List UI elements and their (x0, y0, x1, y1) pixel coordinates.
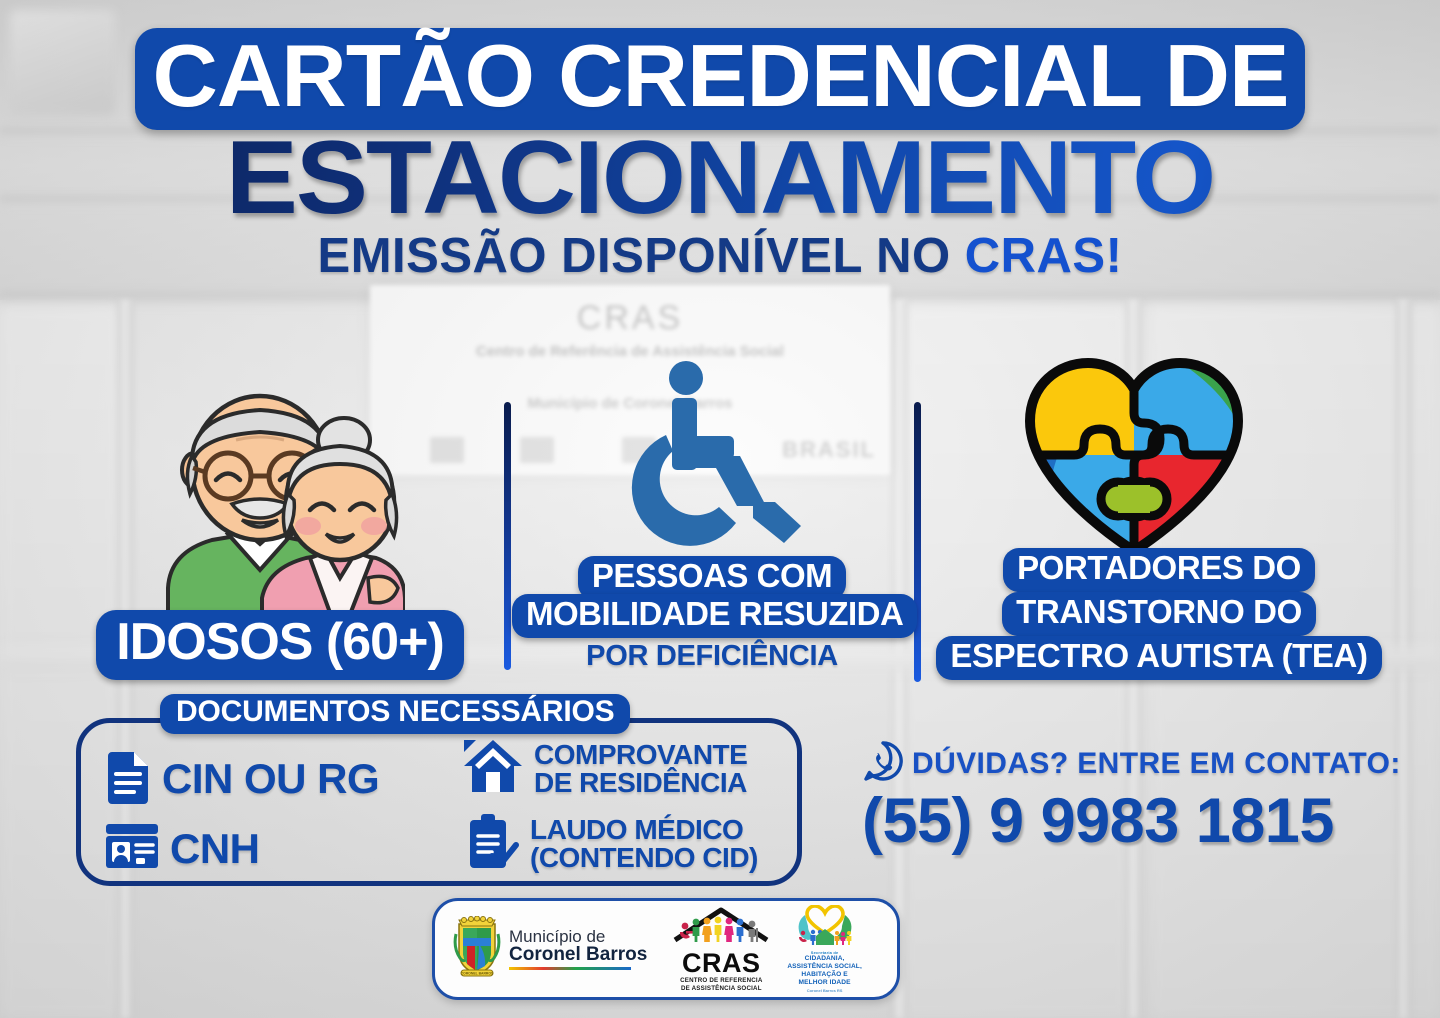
contact-phone[interactable]: (55) 9 9983 1815 (862, 785, 1432, 857)
footer-municipality-colorbar (509, 967, 631, 970)
autism-puzzle-heart-icon (1018, 355, 1250, 555)
category-idosos: IDOSOS (60+) (60, 610, 500, 680)
footer-municipality-logo: CORONEL BARROS Município de Coronel Barr… (453, 916, 647, 983)
document-label-cnh: CNH (170, 828, 260, 870)
document-item-residencia: COMPROVANTE DE RESIDÊNCIA (462, 738, 747, 799)
document-label-residencia-line1: COMPROVANTE (534, 741, 747, 769)
document-icon (104, 748, 152, 809)
clipboard-check-icon (462, 812, 520, 875)
document-item-cnh: CNH (104, 822, 260, 875)
footer-municipality-line1: Município de (509, 928, 647, 946)
documents-title: DOCUMENTOS NECESSÁRIOS (160, 694, 630, 734)
contact-prompt: DÚVIDAS? ENTRE EM CONTATO: (912, 747, 1401, 781)
svg-text:CORONEL BARROS: CORONEL BARROS (461, 971, 494, 975)
title-line1: CARTÃO CREDENCIAL DE (152, 34, 1288, 118)
footer-cras-name: CRAS (669, 951, 773, 975)
whatsapp-icon[interactable] (862, 740, 904, 787)
footer-municipality-line2: Coronel Barros (509, 945, 647, 965)
column-divider-1 (504, 402, 511, 670)
contact-block: DÚVIDAS? ENTRE EM CONTATO: (55) 9 9983 1… (862, 740, 1432, 857)
footer-secretaria-line2: ASSISTÊNCIA SOCIAL, (787, 963, 862, 971)
elderly-couple-icon (150, 392, 405, 640)
category-idosos-label: IDOSOS (60+) (96, 610, 464, 680)
category-tea-label-line2: TRANSTORNO DO (1002, 592, 1316, 636)
document-label-laudo-line1: LAUDO MÉDICO (530, 816, 758, 844)
footer-secretaria-line4: MELHOR IDADE (787, 979, 862, 987)
column-divider-2 (914, 402, 921, 682)
category-pcd-label-line2: MOBILIDADE RESUZIDA (512, 594, 917, 638)
footer-secretaria-post: Coronel Barros RS (787, 988, 862, 993)
category-mobilidade-reduzida: PESSOAS COM MOBILIDADE RESUZIDA POR DEFI… (512, 556, 912, 673)
category-tea: PORTADORES DO TRANSTORNO DO ESPECTRO AUT… (924, 548, 1394, 680)
house-icon (462, 738, 524, 799)
document-label-laudo: LAUDO MÉDICO (CONTENDO CID) (530, 816, 758, 872)
document-label-residencia: COMPROVANTE DE RESIDÊNCIA (534, 741, 747, 797)
title-line3: EMISSÃO DISPONÍVEL NO CRAS! (0, 228, 1440, 284)
footer-cras-subtitle-line2: DE ASSISTÊNCIA SOCIAL (669, 985, 773, 993)
footer-secretaria-line1: CIDADANIA, (787, 955, 862, 963)
document-item-cin: CIN OU RG (104, 748, 379, 809)
wheelchair-icon (600, 360, 830, 560)
title-line1-pill: CARTÃO CREDENCIAL DE (135, 28, 1306, 130)
id-card-icon (104, 822, 160, 875)
footer-cras-logo: CRAS CENTRO DE REFERENCIA DE ASSISTÊNCIA… (669, 906, 773, 993)
title-line2: ESTACIONAMENTO (0, 126, 1440, 230)
document-label-residencia-line2: DE RESIDÊNCIA (534, 769, 747, 797)
category-pcd-subtitle: POR DEFICIÊNCIA (512, 640, 912, 673)
hands-heart-icon (793, 932, 857, 949)
documents-title-label: DOCUMENTOS NECESSÁRIOS (160, 694, 630, 734)
coronel-barros-coat-of-arms-icon: CORONEL BARROS (453, 916, 501, 983)
document-label-cin: CIN OU RG (162, 758, 379, 800)
document-label-laudo-line2: (CONTENDO CID) (530, 844, 758, 872)
page-title: CARTÃO CREDENCIAL DE ESTACIONAMENTO EMIS… (0, 28, 1440, 284)
title-line3-highlight: CRAS! (965, 229, 1123, 283)
document-item-laudo: LAUDO MÉDICO (CONTENDO CID) (462, 812, 758, 875)
footer-secretaria-logo: Secretaria de CIDADANIA, ASSISTÊNCIA SOC… (787, 905, 862, 993)
category-tea-label-line1: PORTADORES DO (1003, 548, 1315, 592)
footer-secretaria-line3: HABITAÇÃO E (787, 971, 862, 979)
footer-cras-subtitle-line1: CENTRO DE REFERENCIA (669, 977, 773, 985)
footer-logos-bar: CORONEL BARROS Município de Coronel Barr… (432, 898, 900, 1000)
category-tea-label-line3: ESPECTRO AUTISTA (TEA) (936, 636, 1381, 680)
title-line3-prefix: EMISSÃO DISPONÍVEL NO (318, 229, 965, 283)
